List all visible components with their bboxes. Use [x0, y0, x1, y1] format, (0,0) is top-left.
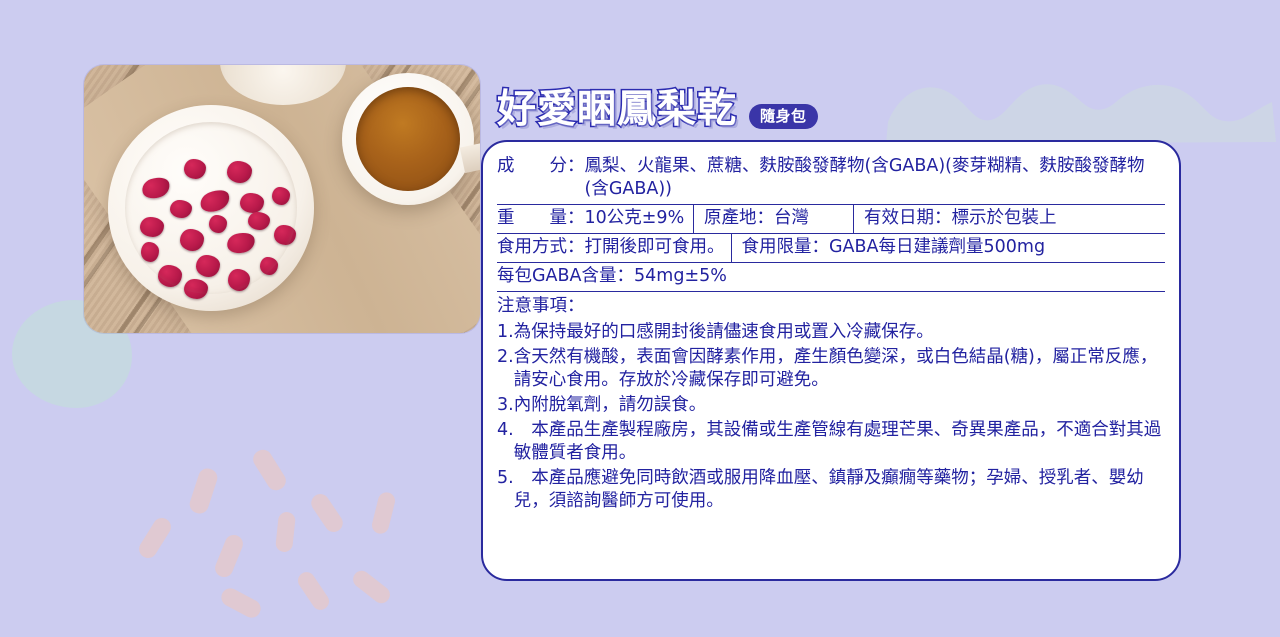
weight-label: 重 量：	[497, 208, 585, 228]
dried-fruit-piece	[141, 242, 159, 262]
gaba-content-row: 每包GABA含量：54mg±5%	[497, 263, 1165, 291]
expiry-value: 標示於包裝上	[952, 208, 1057, 228]
dried-fruit-piece	[240, 193, 264, 213]
dried-fruit-piece	[140, 217, 164, 237]
dried-fruit-piece	[196, 255, 220, 277]
dash-decoration	[212, 532, 245, 580]
serving-plate	[108, 105, 314, 311]
note-item: 4. 本產品生產製程廠房，其設備或生產管線有處理芒果、奇異果產品，不適合對其過敏…	[497, 418, 1165, 466]
origin-label: 原產地：	[704, 208, 774, 228]
gaba-label: 每包GABA含量：	[497, 266, 634, 286]
usage-label: 食用方式：	[497, 237, 585, 257]
page-title: 好愛睏鳳梨乾	[497, 90, 737, 129]
origin-value: 台灣	[774, 208, 809, 228]
note-text: 含天然有機酸，表面會因酵素作用，產生顏色變深，或白色結晶(糖)，屬正常反應，請安…	[514, 346, 1165, 392]
notes-heading: 注意事項：	[497, 292, 1165, 319]
dried-fruit-piece	[158, 265, 182, 287]
dash-decoration	[250, 446, 289, 493]
weight-origin-expiry-row: 重 量：10公克±9% 原產地：台灣 有效日期：標示於包裝上	[497, 205, 1165, 233]
usage-limit-row: 食用方式：打開後即可食用。 食用限量：GABA每日建議劑量500mg	[497, 234, 1165, 262]
note-text: 內附脫氧劑，請勿誤食。	[514, 394, 1165, 417]
dried-fruit-piece	[272, 187, 290, 205]
dried-fruit-piece	[260, 257, 278, 275]
note-text: 為保持最好的口感開封後請儘速食用或置入冷藏保存。	[514, 321, 1165, 344]
dried-fruit-piece	[197, 186, 232, 216]
note-number: 1.	[497, 321, 514, 344]
origin-cell: 原產地：台灣	[693, 205, 853, 233]
dried-fruit-piece	[227, 161, 252, 183]
gaba-value: 54mg±5%	[634, 266, 727, 286]
dried-fruit-piece	[170, 200, 192, 218]
usage-value: 打開後即可食用。	[585, 237, 725, 257]
status-badge: 隨身包	[749, 104, 818, 130]
tea-cup	[342, 73, 474, 205]
note-text: 本產品生產製程廠房，其設備或生產管線有處理芒果、奇異果產品，不適合對其過敏體質者…	[514, 419, 1165, 465]
product-photo	[84, 65, 480, 333]
dash-decoration	[218, 585, 264, 621]
dried-fruit-piece	[140, 174, 173, 202]
ingredients-value: 鳳梨、火龍果、蔗糖、麩胺酸發酵物(含GABA)(麥芽糊精、麩胺酸發酵物(含GAB…	[585, 155, 1166, 201]
dried-fruit-piece	[184, 279, 208, 299]
dried-fruit-piece	[248, 212, 270, 230]
dried-fruit-piece	[180, 229, 204, 251]
dried-fruit-piece	[184, 159, 206, 179]
note-number: 3.	[497, 394, 514, 417]
dash-decoration	[187, 466, 219, 516]
title-row: 好愛睏鳳梨乾 隨身包	[497, 90, 818, 129]
limit-value: GABA每日建議劑量500mg	[829, 237, 1045, 257]
dried-fruit-piece	[225, 230, 257, 256]
product-info-card: 成 分： 鳳梨、火龍果、蔗糖、麩胺酸發酵物(含GABA)(麥芽糊精、麩胺酸發酵物…	[481, 140, 1181, 581]
note-item: 5. 本產品應避免同時飲酒或服用降血壓、鎮靜及癲癇等藥物；孕婦、授乳者、嬰幼兒，…	[497, 466, 1165, 514]
weight-cell: 重 量：10公克±9%	[497, 205, 693, 233]
note-number: 5.	[497, 467, 514, 513]
limit-label: 食用限量：	[742, 237, 830, 257]
dash-decoration	[295, 569, 333, 613]
note-item: 2. 含天然有機酸，表面會因酵素作用，產生顏色變深，或白色結晶(糖)，屬正常反應…	[497, 345, 1165, 393]
expiry-cell: 有效日期：標示於包裝上	[853, 205, 1165, 233]
dried-fruit-piece	[209, 215, 227, 233]
ingredients-label: 成 分：	[497, 155, 585, 201]
dried-fruit-piece	[228, 269, 250, 291]
dash-decoration	[275, 511, 296, 553]
dash-decoration	[350, 567, 394, 606]
weight-value: 10公克±9%	[585, 208, 685, 228]
limit-cell: 食用限量：GABA每日建議劑量500mg	[731, 234, 1166, 262]
ingredients-row: 成 分： 鳳梨、火龍果、蔗糖、麩胺酸發酵物(含GABA)(麥芽糊精、麩胺酸發酵物…	[497, 155, 1165, 204]
wave-blob-decoration	[880, 58, 1280, 150]
dash-decoration	[370, 491, 397, 536]
note-text: 本產品應避免同時飲酒或服用降血壓、鎮靜及癲癇等藥物；孕婦、授乳者、嬰幼兒，須諮詢…	[514, 467, 1165, 513]
note-item: 3. 內附脫氧劑，請勿誤食。	[497, 393, 1165, 418]
note-number: 4.	[497, 419, 514, 465]
dried-fruit-piece	[274, 225, 296, 245]
usage-cell: 食用方式：打開後即可食用。	[497, 234, 731, 262]
note-number: 2.	[497, 346, 514, 392]
product-info-page: 好愛睏鳳梨乾 隨身包 成 分： 鳳梨、火龍果、蔗糖、麩胺酸發酵物(含GABA)(…	[0, 0, 1280, 637]
expiry-label: 有效日期：	[864, 208, 952, 228]
note-item: 1. 為保持最好的口感開封後請儘速食用或置入冷藏保存。	[497, 320, 1165, 345]
dash-decoration	[308, 491, 346, 536]
dash-decoration	[136, 515, 175, 562]
